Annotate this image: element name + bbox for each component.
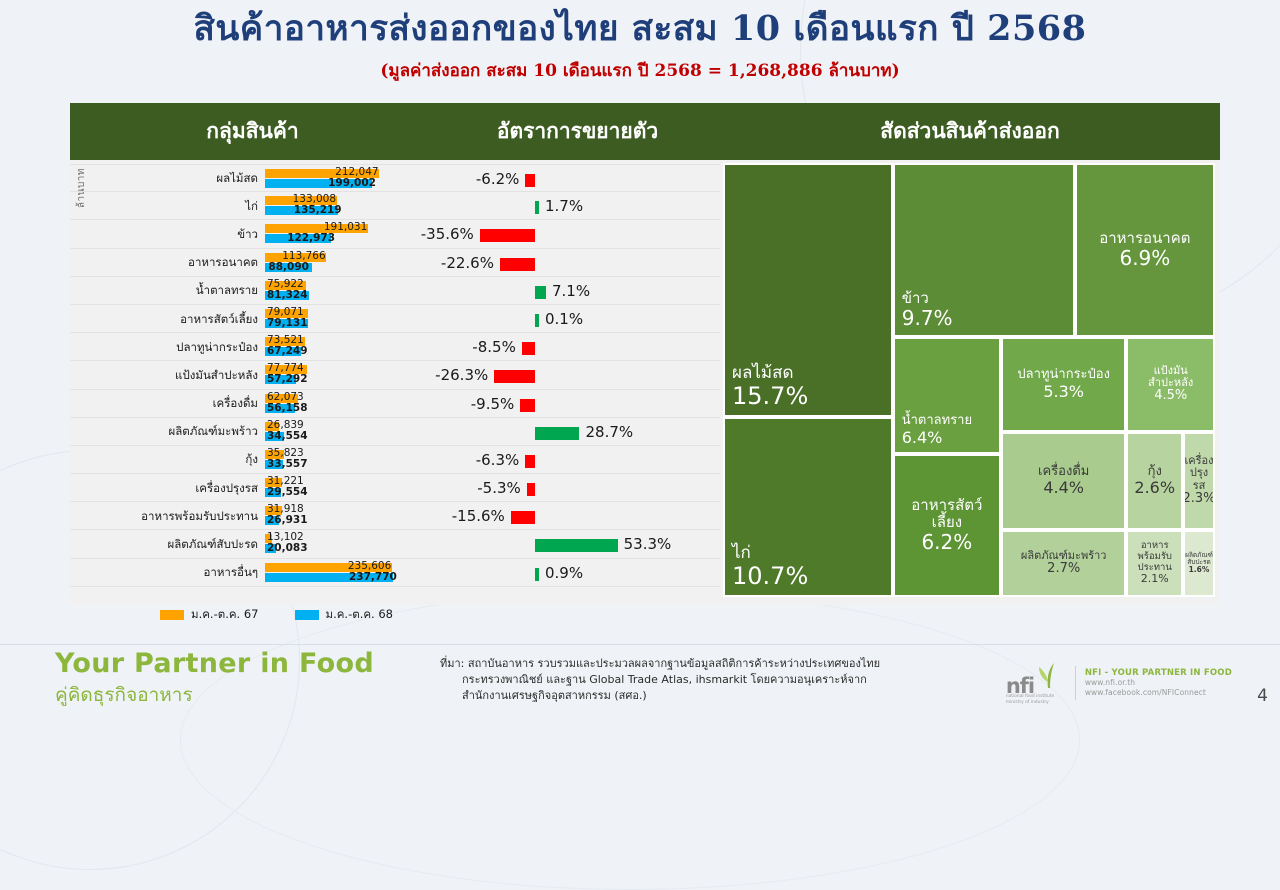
- growth-value-label: -15.6%: [452, 507, 505, 525]
- bar-category-label: เครื่องปรุงรส: [70, 482, 265, 494]
- page-title: สินค้าอาหารส่งออกของไทย สะสม 10 เดือนแรก…: [0, 8, 1280, 49]
- bar-chart-row: เครื่องปรุงรส31,22129,554: [70, 474, 435, 502]
- growth-value-label: 53.3%: [624, 535, 672, 553]
- column-header-growth-rate: อัตราการขยายตัว: [435, 115, 720, 148]
- chart-legend: ม.ค.-ต.ค. 67 ม.ค.-ต.ค. 68: [160, 606, 421, 624]
- growth-value-label: 7.1%: [552, 282, 590, 300]
- growth-bar: [535, 568, 539, 581]
- bar-category-label: ปลาทูน่ากระป๋อง: [70, 341, 265, 353]
- bar-category-label: แป้งมันสำปะหลัง: [70, 369, 265, 381]
- treemap-tile: ปลาทูน่ากระป๋อง5.3%: [1001, 337, 1126, 432]
- growth-row: -22.6%: [435, 249, 720, 277]
- legend-swatch-curr: [295, 610, 319, 620]
- growth-bar: [525, 174, 535, 187]
- source-line-2: กระทรวงพาณิชย์ และฐาน Global Trade Atlas…: [440, 672, 880, 688]
- bar-chart-row: อาหารอื่นๆ235,606237,770: [70, 559, 435, 587]
- growth-row: 0.1%: [435, 305, 720, 333]
- growth-row: 0.9%: [435, 559, 720, 587]
- leaf-icon: [1034, 660, 1064, 695]
- column-header-export-share: สัดส่วนสินค้าส่งออก: [720, 115, 1220, 148]
- bar-value-curr: 81,324: [267, 289, 308, 301]
- growth-value-label: 0.1%: [545, 310, 583, 328]
- bar-pair: 31,91826,931: [265, 502, 435, 529]
- growth-row: 53.3%: [435, 530, 720, 558]
- growth-bar: [535, 427, 579, 440]
- growth-value-label: -8.5%: [472, 338, 516, 356]
- bar-pair: 133,008135,219: [265, 192, 435, 219]
- treemap-tile-name: เครื่องดื่ม: [1038, 465, 1089, 480]
- bar-value-curr: 79,131: [267, 317, 308, 329]
- growth-bar: [527, 483, 535, 496]
- export-share-treemap: ผลไม้สด15.7%ไก่10.7%ข้าว9.7%อาหารอนาคต6.…: [720, 160, 1220, 605]
- growth-row: -6.2%: [435, 164, 720, 192]
- column-header-product-group: กลุ่มสินค้า: [70, 115, 435, 148]
- growth-row: -8.5%: [435, 333, 720, 361]
- growth-row: -35.6%: [435, 220, 720, 248]
- treemap-tile: อาหารอนาคต6.9%: [1075, 163, 1215, 337]
- bar-value-curr: 20,083: [267, 542, 308, 554]
- growth-value-label: -5.3%: [477, 479, 521, 497]
- growth-value-label: -6.3%: [476, 451, 520, 469]
- bar-pair: 31,22129,554: [265, 474, 435, 501]
- treemap-tile-name: ไก่: [732, 544, 884, 563]
- chart-panel: กลุ่มสินค้า อัตราการขยายตัว สัดส่วนสินค้…: [70, 103, 1220, 605]
- bar-pair: 235,606237,770: [265, 559, 435, 586]
- source-note: ที่มา: สถาบันอาหาร รวบรวมและประมวลผลจากฐ…: [440, 656, 880, 704]
- bar-chart-row: ปลาทูน่ากระป๋อง73,52167,249: [70, 333, 435, 361]
- nfi-wordmark-sub: national food institute ministry of indu…: [1006, 694, 1054, 706]
- footer-divider: [0, 644, 1280, 645]
- growth-row: 28.7%: [435, 418, 720, 446]
- treemap-tile-name: อาหารอนาคต: [1099, 230, 1190, 247]
- bar-chart-row: อาหารสัตว์เลี้ยง79,07179,131: [70, 305, 435, 333]
- growth-bar: [525, 455, 535, 468]
- treemap-tile-name: แป้งมันสำปะหลัง: [1135, 365, 1206, 390]
- bar-category-label: ผลิตภัณฑ์มะพร้าว: [70, 425, 265, 437]
- growth-row: -26.3%: [435, 361, 720, 389]
- bar-chart-row: ผลไม้สด212,047199,002: [70, 164, 435, 192]
- legend-item-curr: ม.ค.-ต.ค. 68: [295, 606, 394, 624]
- page-subtitle: (มูลค่าส่งออก สะสม 10 เดือนแรก ปี 2568 =…: [0, 57, 1280, 84]
- bar-value-curr: 57,292: [267, 373, 308, 385]
- bar-chart-row: แป้งมันสำปะหลัง77,77457,292: [70, 361, 435, 389]
- treemap-tile: แป้งมันสำปะหลัง4.5%: [1126, 337, 1215, 432]
- bar-chart: ล้านบาท ผลไม้สด212,047199,002ไก่133,0081…: [70, 160, 435, 605]
- bar-pair: 191,031122,973: [265, 220, 435, 247]
- bar-chart-row: ไก่133,008135,219: [70, 192, 435, 220]
- treemap-tile: อาหารสัตว์เลี้ยง6.2%: [893, 454, 1001, 597]
- title-block: สินค้าอาหารส่งออกของไทย สะสม 10 เดือนแรก…: [0, 8, 1280, 84]
- logo-url-website[interactable]: www.nfi.or.th: [1085, 678, 1232, 688]
- treemap-tile-name: อาหารพร้อมรับประทาน: [1135, 541, 1174, 573]
- bar-value-curr: 67,249: [267, 345, 308, 357]
- bar-pair: 75,92281,324: [265, 277, 435, 304]
- bar-pair: 62,07356,158: [265, 390, 435, 417]
- bar-pair: 212,047199,002: [265, 165, 435, 191]
- growth-value-label: -35.6%: [421, 225, 474, 243]
- treemap-tile-percent: 6.4%: [902, 429, 992, 447]
- panel-body: ล้านบาท ผลไม้สด212,047199,002ไก่133,0081…: [70, 160, 1220, 605]
- bar-value-curr: 237,770: [349, 571, 397, 583]
- growth-bar: [500, 258, 535, 271]
- bar-chart-row: อาหารพร้อมรับประทาน31,91826,931: [70, 502, 435, 530]
- growth-bar: [535, 286, 546, 299]
- treemap-tile-name: ผลไม้สด: [732, 364, 884, 383]
- growth-bar: [522, 342, 535, 355]
- treemap-tile-percent: 9.7%: [902, 307, 1066, 329]
- bar-pair: 79,07179,131: [265, 305, 435, 332]
- bar-value-curr: 199,002: [328, 177, 376, 189]
- treemap-tile-percent: 5.3%: [1043, 383, 1084, 401]
- legend-swatch-prev: [160, 610, 184, 620]
- background-arc-3: [180, 590, 1080, 890]
- bar-category-label: ผลไม้สด: [70, 172, 265, 184]
- growth-row: -6.3%: [435, 446, 720, 474]
- bar-category-label: อาหารอนาคต: [70, 256, 265, 268]
- growth-bar: [520, 399, 535, 412]
- growth-value-label: 28.7%: [585, 423, 633, 441]
- treemap-tile-percent: 4.4%: [1043, 479, 1084, 497]
- treemap-tile: ผลไม้สด15.7%: [723, 163, 893, 417]
- growth-row: 1.7%: [435, 192, 720, 220]
- treemap-tile-name: น้ำตาลทราย: [902, 414, 992, 429]
- treemap-tile-percent: 4.5%: [1154, 389, 1187, 404]
- treemap-tile-name: อาหารสัตว์เลี้ยง: [902, 497, 992, 531]
- growth-bar: [511, 511, 535, 524]
- bar-pair: 113,76688,090: [265, 249, 435, 276]
- logo-divider: [1075, 666, 1076, 700]
- treemap-tile: ผลิตภัณฑ์มะพร้าว2.7%: [1001, 530, 1126, 597]
- bar-value-curr: 56,158: [267, 402, 308, 414]
- bar-pair: 13,10220,083: [265, 530, 435, 557]
- bar-chart-row: ข้าว191,031122,973: [70, 220, 435, 248]
- bar-value-curr: 88,090: [268, 261, 309, 273]
- bar-category-label: ผลิตภัณฑ์สับปะรด: [70, 538, 265, 550]
- bar-pair: 26,83934,554: [265, 418, 435, 445]
- treemap-tile: กุ้ง2.6%: [1126, 432, 1183, 530]
- treemap-tile-percent: 10.7%: [732, 563, 884, 590]
- bar-value-curr: 34,554: [267, 430, 308, 442]
- treemap-tile-name: กุ้ง: [1148, 465, 1162, 480]
- growth-bar: [535, 539, 618, 552]
- growth-value-label: 1.7%: [545, 197, 583, 215]
- bar-value-curr: 29,554: [267, 486, 308, 498]
- growth-value-label: -26.3%: [435, 366, 488, 384]
- logo-text-block: NFI - YOUR PARTNER IN FOOD www.nfi.or.th…: [1085, 668, 1232, 698]
- bar-pair: 35,82333,557: [265, 446, 435, 473]
- treemap-tile: ไก่10.7%: [723, 417, 893, 597]
- growth-row: -5.3%: [435, 474, 720, 502]
- treemap-tile: เครื่องดื่ม4.4%: [1001, 432, 1126, 530]
- treemap-tile-percent: 2.1%: [1141, 573, 1169, 585]
- bar-category-label: อาหารสัตว์เลี้ยง: [70, 313, 265, 325]
- bar-pair: 77,77457,292: [265, 361, 435, 388]
- source-line-1: ที่มา: สถาบันอาหาร รวบรวมและประมวลผลจากฐ…: [440, 656, 880, 672]
- treemap-tile-percent: 2.3%: [1183, 492, 1215, 507]
- treemap-tile-percent: 2.6%: [1134, 479, 1175, 497]
- nfi-logo-mark: nfi national food institute ministry of …: [1004, 660, 1066, 706]
- treemap-tile-percent: 6.9%: [1119, 247, 1170, 269]
- growth-value-label: -9.5%: [471, 395, 515, 413]
- bar-pair: 73,52167,249: [265, 333, 435, 360]
- legend-item-prev: ม.ค.-ต.ค. 67: [160, 606, 259, 624]
- source-line-3: สำนักงานเศรษฐกิจอุตสาหกรรม (สศอ.): [440, 688, 880, 704]
- treemap-tile-name: ปลาทูน่ากระป๋อง: [1017, 368, 1110, 383]
- bar-value-curr: 135,219: [294, 204, 342, 216]
- bar-value-curr: 26,931: [267, 514, 308, 526]
- treemap-tile: ผลิตภัณฑ์สับปะรด1.6%: [1183, 530, 1215, 597]
- growth-bar: [494, 370, 535, 383]
- panel-header: กลุ่มสินค้า อัตราการขยายตัว สัดส่วนสินค้…: [70, 103, 1220, 160]
- brand-tagline-th: คู่คิดธุรกิจอาหาร: [55, 680, 374, 710]
- bar-category-label: ไก่: [70, 200, 265, 212]
- page-number: 4: [1257, 686, 1268, 706]
- treemap-tile: เครื่องปรุงรส2.3%: [1183, 432, 1215, 530]
- growth-bar: [535, 201, 539, 214]
- bar-chart-row: อาหารอนาคต113,76688,090: [70, 249, 435, 277]
- treemap-tile-percent: 15.7%: [732, 383, 884, 410]
- bar-value-curr: 122,973: [287, 232, 335, 244]
- bar-chart-row: กุ้ง35,82333,557: [70, 446, 435, 474]
- bar-category-label: ข้าว: [70, 228, 265, 240]
- bar-category-label: กุ้ง: [70, 453, 265, 465]
- treemap-tile: น้ำตาลทราย6.4%: [893, 337, 1001, 454]
- legend-label-prev: ม.ค.-ต.ค. 67: [191, 606, 259, 624]
- nfi-logo: nfi national food institute ministry of …: [1004, 660, 1232, 706]
- growth-row: 7.1%: [435, 277, 720, 305]
- bar-chart-row: เครื่องดื่ม62,07356,158: [70, 390, 435, 418]
- treemap-tile-name: เครื่องปรุงรส: [1185, 455, 1214, 492]
- treemap-tile: อาหารพร้อมรับประทาน2.1%: [1126, 530, 1183, 597]
- bar-value-curr: 33,557: [267, 458, 308, 470]
- treemap-tile-percent: 1.6%: [1189, 566, 1210, 574]
- treemap-tile-percent: 6.2%: [921, 531, 972, 553]
- bar-chart-row: ผลิตภัณฑ์สับปะรด13,10220,083: [70, 530, 435, 558]
- growth-value-label: 0.9%: [545, 564, 583, 582]
- growth-bar: [480, 229, 535, 242]
- brand-tagline-en: Your Partner in Food: [55, 648, 374, 679]
- brand-block: Your Partner in Food คู่คิดธุรกิจอาหาร: [55, 648, 374, 710]
- growth-value-label: -22.6%: [441, 254, 494, 272]
- bar-category-label: น้ำตาลทราย: [70, 284, 265, 296]
- growth-rate-chart: -6.2%1.7%-35.6%-22.6%7.1%0.1%-8.5%-26.3%…: [435, 160, 720, 605]
- bar-category-label: อาหารพร้อมรับประทาน: [70, 510, 265, 522]
- growth-value-label: -6.2%: [476, 170, 520, 188]
- logo-title: NFI - YOUR PARTNER IN FOOD: [1085, 668, 1232, 678]
- treemap-tile: ข้าว9.7%: [893, 163, 1075, 337]
- bar-category-label: เครื่องดื่ม: [70, 397, 265, 409]
- growth-bar: [535, 314, 539, 327]
- logo-url-facebook[interactable]: www.facebook.com/NFIConnect: [1085, 688, 1232, 698]
- bar-chart-row: น้ำตาลทราย75,92281,324: [70, 277, 435, 305]
- growth-row: -15.6%: [435, 502, 720, 530]
- legend-label-curr: ม.ค.-ต.ค. 68: [326, 606, 394, 624]
- bar-category-label: อาหารอื่นๆ: [70, 566, 265, 578]
- treemap-tile-name: ข้าว: [902, 290, 1066, 307]
- treemap-tile-name: ผลิตภัณฑ์สับปะรด: [1185, 552, 1213, 567]
- growth-row: -9.5%: [435, 390, 720, 418]
- treemap-tile-percent: 2.7%: [1047, 562, 1080, 577]
- bar-chart-row: ผลิตภัณฑ์มะพร้าว26,83934,554: [70, 418, 435, 446]
